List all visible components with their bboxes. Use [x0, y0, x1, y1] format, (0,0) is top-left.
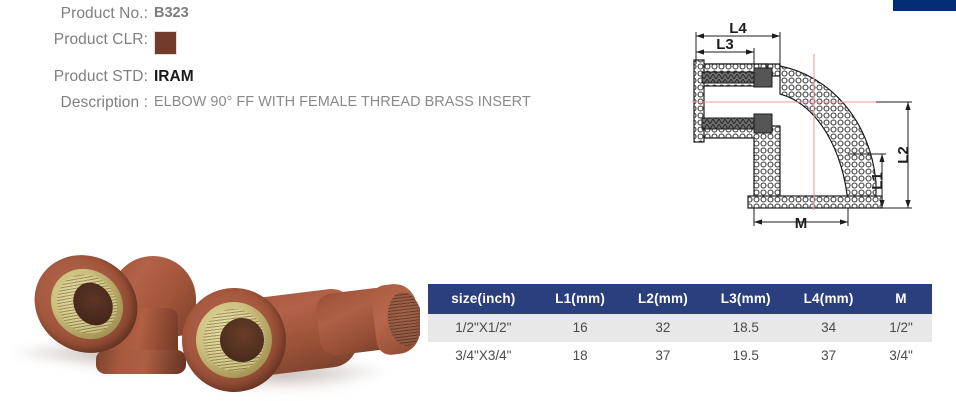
dimension-label-L2: L2 — [895, 146, 912, 164]
product-spec-block: Product No.: B323 Product CLR: Product S… — [0, 4, 620, 119]
spec-label-product-no: Product No.: — [0, 4, 148, 23]
table-header-row: size(inch) L1(mm) L2(mm) L3(mm) L4(mm) M — [428, 284, 932, 314]
spec-row-product-clr: Product CLR: — [0, 30, 620, 60]
cell-l3: 19.5 — [704, 342, 787, 370]
cell-l3: 18.5 — [704, 314, 787, 342]
spec-value-product-no: B323 — [154, 4, 189, 23]
cell-l4: 34 — [787, 314, 870, 342]
cell-l1: 18 — [539, 342, 622, 370]
column-header-l4: L4(mm) — [787, 284, 870, 314]
spec-row-product-std: Product STD: IRAM — [0, 67, 620, 86]
column-header-l3: L3(mm) — [704, 284, 787, 314]
cell-l2: 32 — [622, 314, 705, 342]
spec-value-product-std: IRAM — [154, 67, 194, 86]
spec-row-product-no: Product No.: B323 — [0, 4, 620, 23]
dimension-label-L4: L4 — [729, 20, 747, 37]
spec-value-description: ELBOW 90° FF WITH FEMALE THREAD BRASS IN… — [154, 93, 531, 111]
cell-size: 1/2"X1/2" — [428, 314, 539, 342]
cell-m: 1/2" — [870, 314, 932, 342]
column-header-l2: L2(mm) — [622, 284, 705, 314]
left-fitting-base — [96, 350, 186, 374]
dimension-label-L3: L3 — [716, 36, 734, 53]
spec-label-product-clr: Product CLR: — [0, 30, 148, 49]
cell-size: 3/4"X3/4" — [428, 342, 539, 370]
dimension-label-M: M — [795, 215, 808, 232]
cell-l4: 37 — [787, 342, 870, 370]
top-accent-bar — [893, 0, 956, 11]
technical-drawing: L4 L3 L2 L1 M — [662, 14, 952, 236]
spec-value-product-clr — [154, 30, 177, 60]
dimension-table: size(inch) L1(mm) L2(mm) L3(mm) L4(mm) M… — [428, 284, 932, 370]
table-row: 3/4"X3/4" 18 37 19.5 37 3/4" — [428, 342, 932, 370]
cell-l2: 37 — [622, 342, 705, 370]
spec-label-description: Description : — [0, 93, 148, 112]
column-header-size: size(inch) — [428, 284, 539, 314]
product-photo — [0, 232, 420, 401]
dimension-label-L1: L1 — [869, 172, 886, 190]
table-row: 1/2"X1/2" 16 32 18.5 34 1/2" — [428, 314, 932, 342]
color-swatch — [154, 31, 177, 55]
cell-m: 3/4" — [870, 342, 932, 370]
spec-row-description: Description : ELBOW 90° FF WITH FEMALE T… — [0, 93, 620, 112]
elbow-section — [694, 60, 882, 208]
column-header-m: M — [870, 284, 932, 314]
column-header-l1: L1(mm) — [539, 284, 622, 314]
spec-label-product-std: Product STD: — [0, 67, 148, 86]
cell-l1: 16 — [539, 314, 622, 342]
